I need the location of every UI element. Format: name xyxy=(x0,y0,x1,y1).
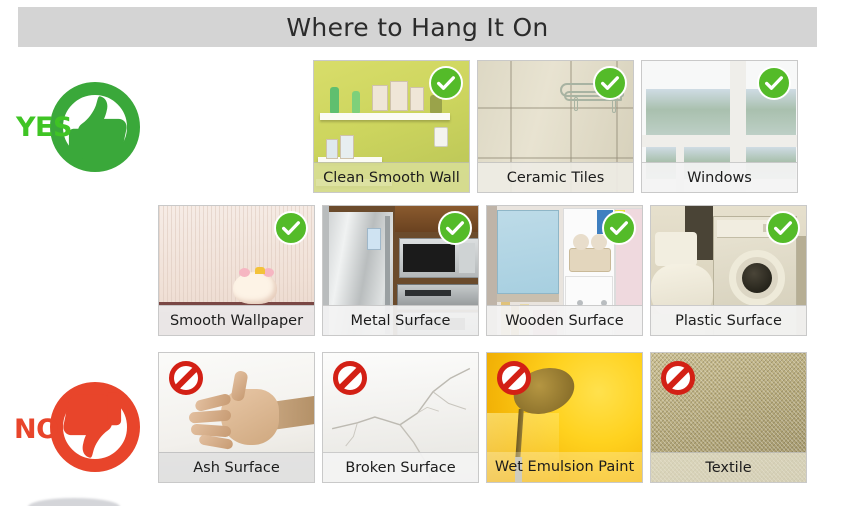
tile-label: Clean Smooth Wall xyxy=(314,162,469,192)
tile-wooden-surface[interactable]: Wooden Surface xyxy=(486,205,643,336)
tile-ceramic-tiles[interactable]: Ceramic Tiles xyxy=(477,60,634,193)
tile-textile[interactable]: Textile xyxy=(650,352,807,483)
infographic-page: Where to Hang It On YES NO xyxy=(0,0,858,506)
check-circle-icon xyxy=(602,211,636,245)
tile-label: Wooden Surface xyxy=(487,305,642,335)
no-entry-icon xyxy=(497,361,531,395)
tile-broken-surface[interactable]: Broken Surface xyxy=(322,352,479,483)
verdict-yes-label: YES xyxy=(16,112,72,143)
tile-plastic-surface[interactable]: Plastic Surface xyxy=(650,205,807,336)
tile-windows[interactable]: Windows xyxy=(641,60,798,193)
page-title-bar: Where to Hang It On xyxy=(18,7,817,47)
tile-label: Ash Surface xyxy=(159,452,314,482)
tile-metal-surface[interactable]: Metal Surface xyxy=(322,205,479,336)
tile-label: Wet Emulsion Paint xyxy=(487,452,642,482)
check-circle-icon xyxy=(757,66,791,100)
no-entry-icon xyxy=(169,361,203,395)
tile-wet-emulsion-paint[interactable]: Wet Emulsion Paint xyxy=(486,352,643,483)
tile-smooth-wallpaper[interactable]: Smooth Wallpaper xyxy=(158,205,315,336)
check-circle-icon xyxy=(438,211,472,245)
tile-label: Smooth Wallpaper xyxy=(159,305,314,335)
tile-label: Metal Surface xyxy=(323,305,478,335)
tile-row-2: Smooth Wallpaper xyxy=(158,205,807,336)
tile-clean-smooth-wall[interactable]: Clean Smooth Wall xyxy=(313,60,470,193)
verdict-yes: YES xyxy=(2,72,152,182)
tile-ash-surface[interactable]: Ash Surface xyxy=(158,352,315,483)
tile-label: Textile xyxy=(651,452,806,482)
tile-row-1: Clean Smooth Wall Ceramic Tiles xyxy=(313,60,798,193)
no-entry-icon xyxy=(661,361,695,395)
check-circle-icon xyxy=(593,66,627,100)
tile-label: Ceramic Tiles xyxy=(478,162,633,192)
tile-label: Plastic Surface xyxy=(651,305,806,335)
verdict-no: NO xyxy=(2,372,152,482)
verdict-no-label: NO xyxy=(14,414,59,445)
check-circle-icon xyxy=(274,211,308,245)
check-circle-icon xyxy=(429,66,463,100)
tile-row-3: Ash Surface Broken Surface xyxy=(158,352,807,483)
tile-label: Windows xyxy=(642,162,797,192)
page-title: Where to Hang It On xyxy=(286,13,548,42)
cut-off-decoration xyxy=(28,498,120,506)
check-circle-icon xyxy=(766,211,800,245)
thumbs-down-icon xyxy=(50,382,140,472)
no-entry-icon xyxy=(333,361,367,395)
tile-label: Broken Surface xyxy=(323,452,478,482)
